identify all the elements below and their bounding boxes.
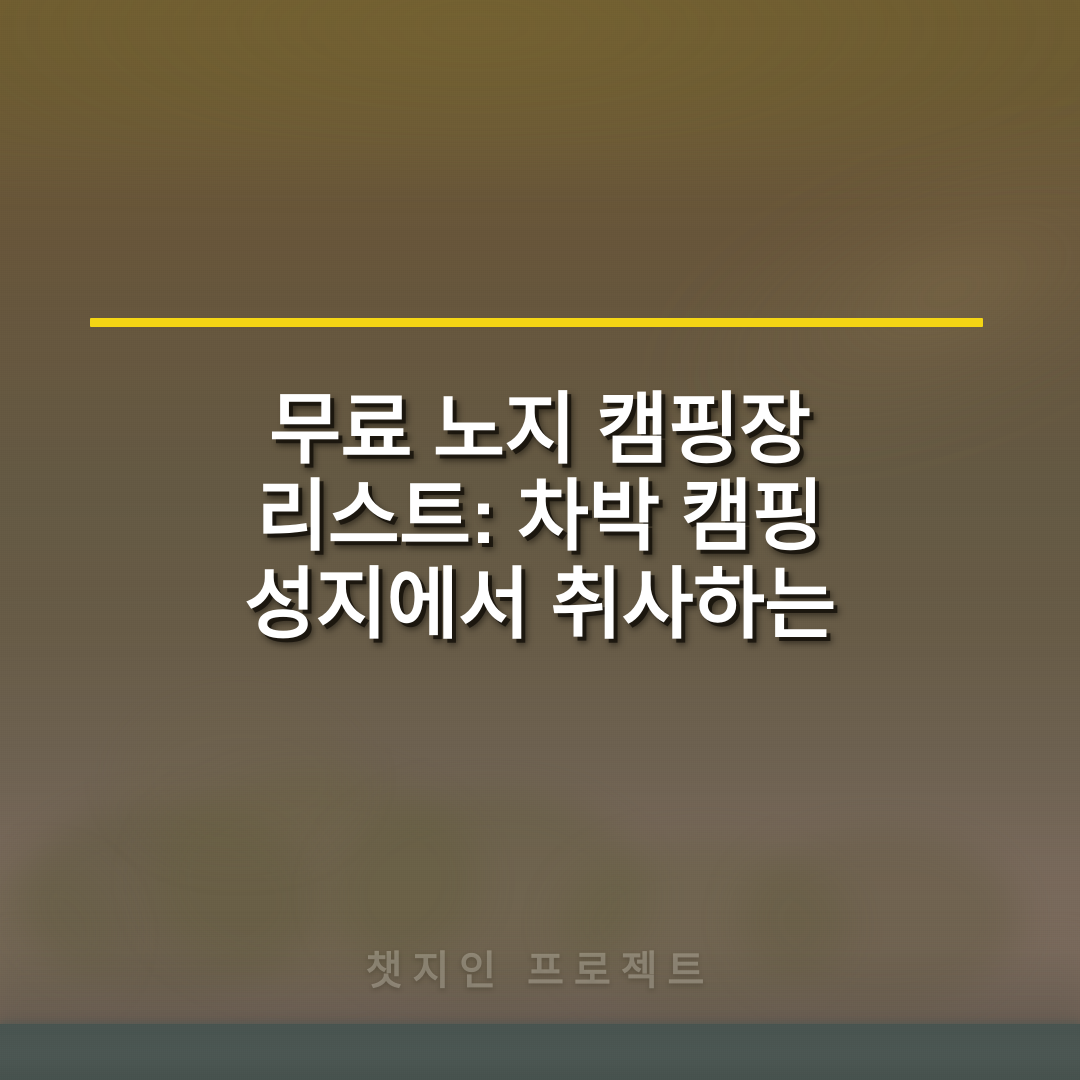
social-card: 무료 노지 캠핑장 리스트: 차박 캠핑 성지에서 취사하는 챗지인 프로젝트 xyxy=(0,0,1080,1080)
brand-watermark: 챗지인 프로젝트 xyxy=(0,938,1080,996)
page-title: 무료 노지 캠핑장 리스트: 차박 캠핑 성지에서 취사하는 xyxy=(0,386,1080,648)
card-content: 무료 노지 캠핑장 리스트: 차박 캠핑 성지에서 취사하는 챗지인 프로젝트 xyxy=(0,0,1080,1080)
yellow-accent-rule xyxy=(90,318,983,327)
